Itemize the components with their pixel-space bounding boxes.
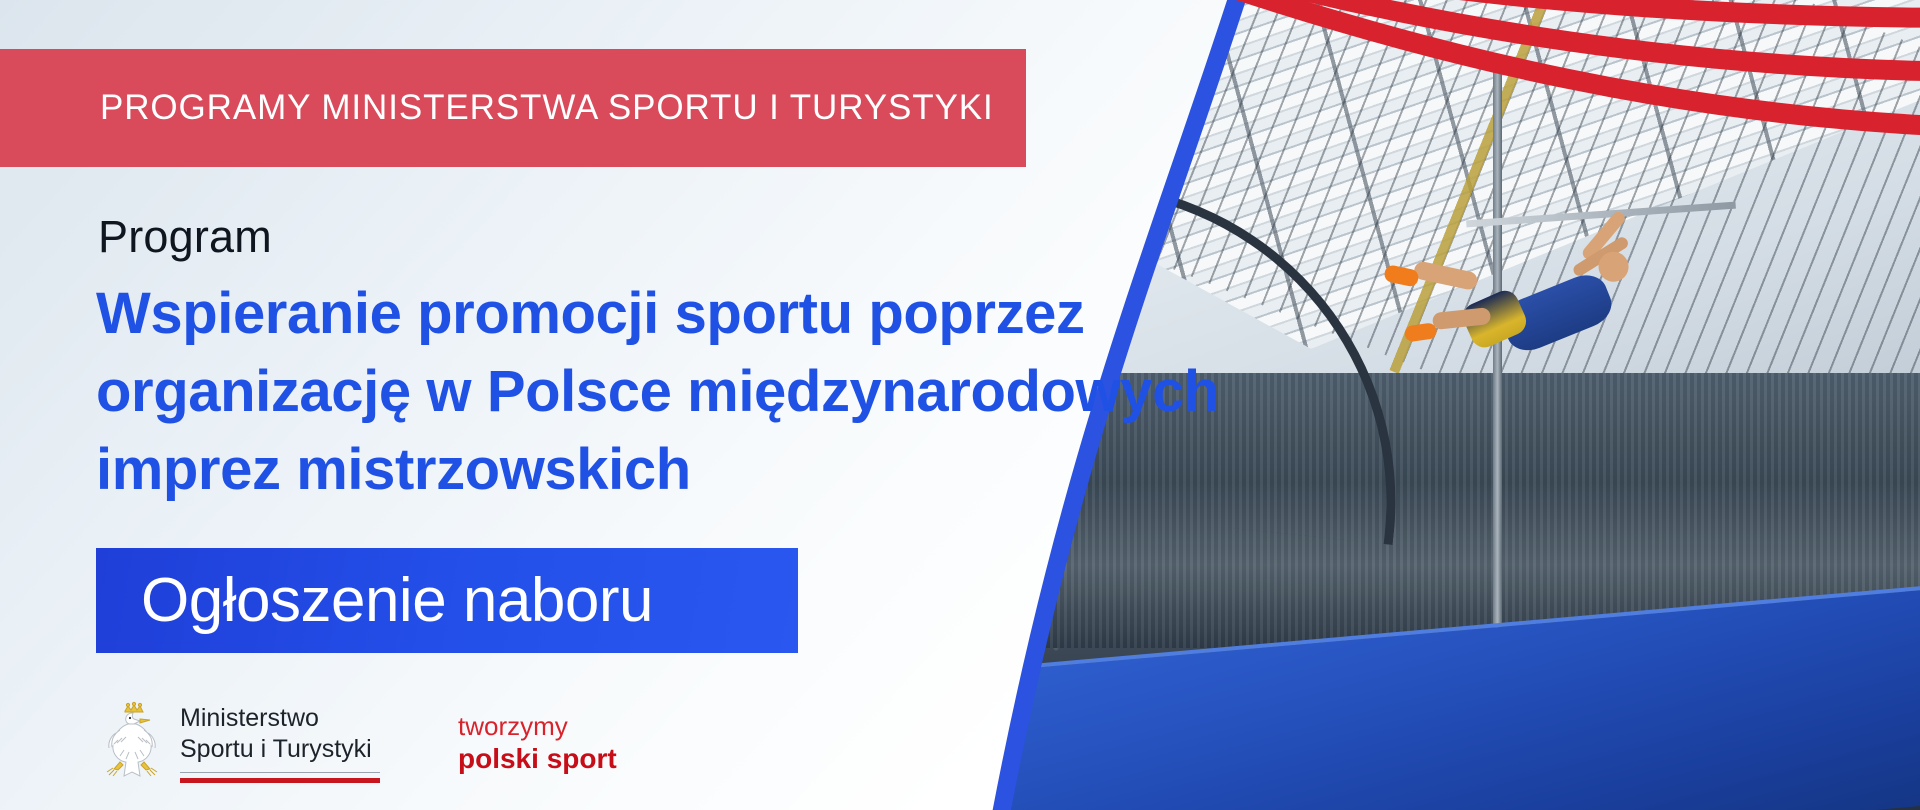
eyebrow-text: PROGRAMY MINISTERSTWA SPORTU I TURYSTYKI — [0, 88, 994, 128]
announcement-cta-button[interactable]: Ogłoszenie naboru — [96, 548, 798, 653]
program-label: Program — [98, 211, 272, 263]
divider-red — [180, 778, 380, 783]
footer-logos: Ministerstwo Sportu i Turystyki tworzymy… — [98, 700, 617, 783]
announcement-cta-label: Ogłoszenie naboru — [96, 565, 653, 636]
promo-banner: PROGRAMY MINISTERSTWA SPORTU I TURYSTYKI… — [0, 0, 1920, 810]
ministry-line-1: Ministerstwo — [180, 703, 380, 734]
page-title: Wspieranie promocji sportu poprzez organ… — [96, 275, 1316, 509]
ministry-line-2: Sportu i Turystyki — [180, 734, 380, 765]
ministry-logo: Ministerstwo Sportu i Turystyki — [98, 700, 380, 783]
polish-eagle-icon — [98, 700, 166, 780]
athlete-leg-front — [1413, 260, 1479, 291]
eyebrow-bar: PROGRAMY MINISTERSTWA SPORTU I TURYSTYKI — [0, 49, 1026, 167]
slogan-line-2: polski sport — [458, 742, 617, 775]
divider-thin — [180, 772, 380, 773]
ministry-wordmark: Ministerstwo Sportu i Turystyki — [180, 700, 380, 783]
slogan-line-1: tworzymy — [458, 711, 617, 742]
slogan-logo: tworzymy polski sport — [420, 709, 617, 775]
